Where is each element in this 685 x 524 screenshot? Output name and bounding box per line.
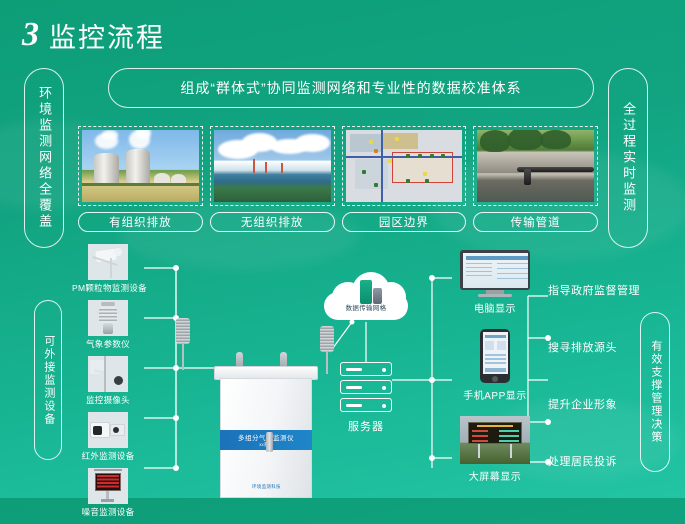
device-noise-display: 噪音监测设备 [72,468,144,518]
vertical-label-text: 环境监测网络全覆盖 [36,86,52,230]
benefit-item: 指导政府监督管理 [548,282,644,298]
output-label: 电脑显示 [452,300,538,315]
mast-right-icon [326,352,328,374]
background-blob [120,200,360,270]
server-rack-icon [340,380,392,394]
photo-caption-row: 有组织排放 无组织排放 园区边界 传输管道 [78,212,598,234]
noise-display-icon [88,468,128,504]
server-rack-icon [340,398,392,412]
gas-monitoring-cabinet: 多组分气体监测仪 xx系列 环境监测科技 [214,348,318,498]
desktop-monitor-icon [460,250,530,296]
device-column: PM颗粒物监测设备 气象参数仪 监控摄像头 红外监测设备 [72,244,144,524]
output-label: 手机APP显示 [452,387,538,402]
device-label: 气象参数仪 [72,338,144,350]
weather-sensor-icon [88,300,128,336]
banner-text: 组成“群体式”协同监测网络和专业性的数据校准体系 [180,78,521,98]
photo-row [78,126,598,206]
photo-cell-transport-pipeline [473,126,598,206]
benefit-item: 搜寻排放源头 [548,339,644,355]
vertical-label-decision-support: 有效支撑管理决策 [640,312,670,472]
benefits-list: 指导政府监督管理 搜寻排放源头 提升企业形象 处理居民投诉 [548,282,644,510]
data-transmission-cloud: 数据传输网格 [324,272,408,322]
photo-cell-park-boundary [342,126,467,206]
vertical-label-text: 可外接监测设备 [41,335,55,426]
server-group: 服务器 [340,362,392,434]
cabinet-logo: 环境监测科技 [252,484,281,490]
server-rack-icon [340,362,392,376]
benefit-item: 处理居民投诉 [548,453,644,469]
device-label: PM颗粒物监测设备 [72,282,144,294]
infrared-camera-icon [88,412,128,448]
server-label: 服务器 [340,418,392,434]
smartphone-icon [480,329,510,383]
vertical-label-text: 全过程实时监测 [620,102,636,214]
banner-pill: 组成“群体式”协同监测网络和专业性的数据校准体系 [108,68,594,108]
photo-industrial-skyline [214,130,331,202]
photo-caption-transport-pipeline: 传输管道 [473,212,598,232]
device-pm-sensor: PM颗粒物监测设备 [72,244,144,294]
radiation-shield-left-icon [176,318,190,344]
photo-cell-unorganized-emission [210,126,335,206]
photo-industrial-park-map [346,130,463,202]
vertical-label-realtime-monitoring: 全过程实时监测 [608,68,648,248]
pm-sensor-icon [88,244,128,280]
photo-cell-organized-emission [78,126,203,206]
cabinet-handle[interactable] [266,432,273,452]
cloud-server-glyph [360,280,372,304]
output-billboard: 大屏幕显示 [452,416,538,483]
radiation-shield-right-icon [320,326,334,352]
section-title: 监控流程 [49,25,165,52]
device-label: 噪音监测设备 [72,506,144,518]
photo-cooling-towers [82,130,199,202]
vertical-label-text: 有效支撑管理决策 [648,340,662,444]
photo-caption-organized-emission: 有组织排放 [78,212,203,232]
output-column: 电脑显示 手机APP显示 [452,250,538,497]
cctv-camera-icon [88,356,128,392]
device-cctv-camera: 监控摄像头 [72,356,144,406]
photo-pipeline [477,130,594,202]
photo-caption-park-boundary: 园区边界 [342,212,467,232]
device-label: 监控摄像头 [72,394,144,406]
mast-left-icon [182,344,184,370]
output-desktop: 电脑显示 [452,250,538,315]
device-weather-sensor: 气象参数仪 [72,300,144,350]
led-billboard-icon [460,416,530,464]
page-title: 3 监控流程 [22,18,165,52]
section-number: 3 [22,18,39,52]
output-phone: 手机APP显示 [452,329,538,402]
vertical-label-external-devices: 可外接监测设备 [34,300,62,460]
output-label: 大屏幕显示 [452,468,538,483]
device-label: 红外监测设备 [72,450,144,462]
device-infrared-camera: 红外监测设备 [72,412,144,462]
cloud-label: 数据传输网格 [324,302,408,312]
vertical-label-network-coverage: 环境监测网络全覆盖 [24,68,64,248]
photo-caption-unorganized-emission: 无组织排放 [210,212,335,232]
benefit-item: 提升企业形象 [548,396,644,412]
